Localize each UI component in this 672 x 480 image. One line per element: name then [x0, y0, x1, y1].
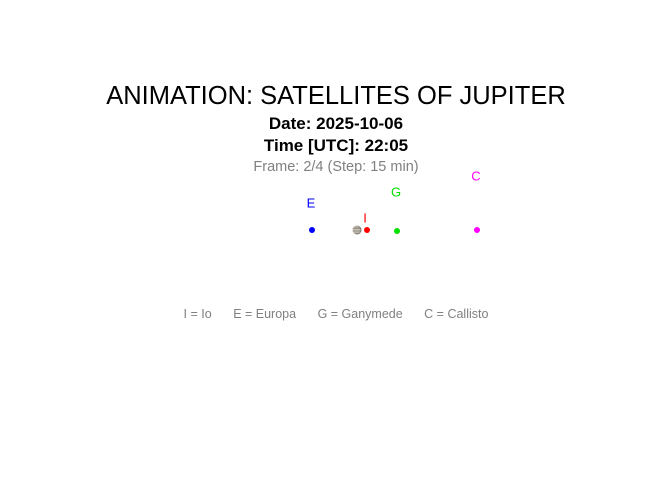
moon-dot-io — [364, 227, 370, 233]
moon-dot-callisto — [474, 227, 480, 233]
moon-dot-europa — [309, 227, 315, 233]
legend-item-callisto: C = Callisto — [424, 307, 488, 321]
moon-label-callisto: C — [471, 170, 480, 183]
moon-dot-ganymede — [394, 228, 400, 234]
legend: I = Io E = Europa G = Ganymede C = Calli… — [0, 306, 672, 322]
animation-canvas: ANIMATION: SATELLITES OF JUPITER Date: 2… — [0, 0, 672, 480]
legend-item-io: I = Io — [184, 307, 212, 321]
moon-label-io: I — [363, 212, 367, 225]
jupiter-disk — [353, 226, 362, 235]
legend-item-europa: E = Europa — [233, 307, 296, 321]
legend-item-ganymede: G = Ganymede — [318, 307, 403, 321]
moon-label-europa: E — [307, 197, 316, 210]
moon-label-ganymede: G — [391, 186, 401, 199]
satellite-scene: E I G C — [0, 0, 672, 480]
